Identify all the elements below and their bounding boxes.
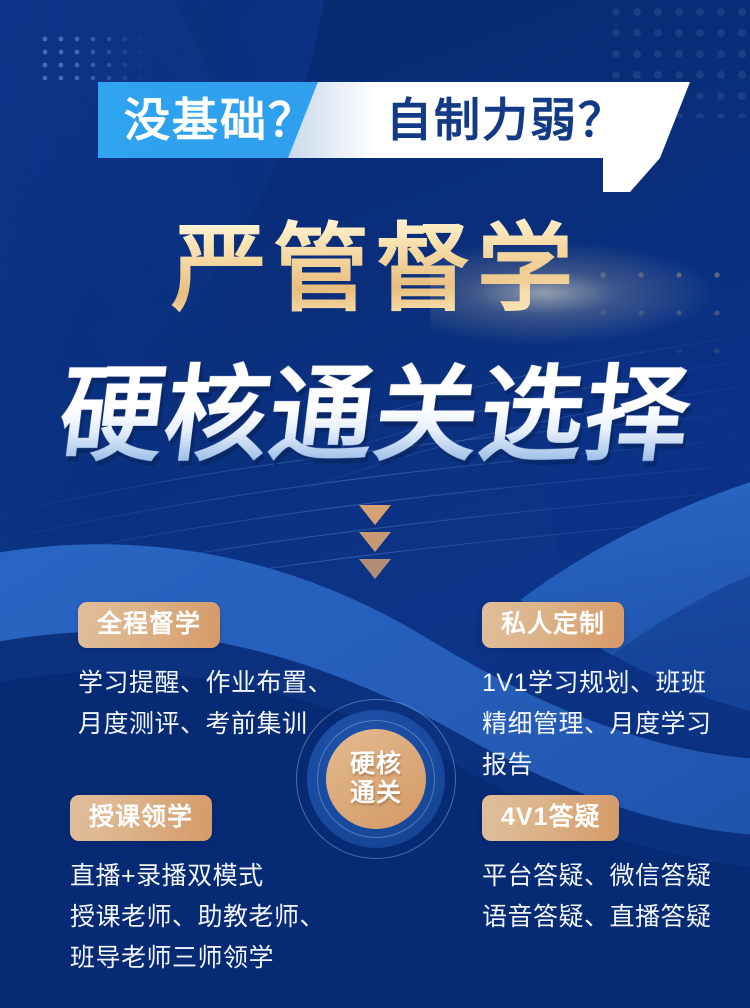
banner-question-left: 没基础？ xyxy=(124,82,316,158)
feature-card-bottom-right: 4V1答疑 平台答疑、微信答疑 语音答疑、直播答疑 xyxy=(482,795,712,938)
feature-card-bottom-left: 授课领学 直播+录播双模式 授课老师、助教老师、 班导老师三师领学 xyxy=(70,795,325,979)
feature-body: 学习提醒、作业布置、 月度测评、考前集训 xyxy=(78,663,333,745)
feature-badge: 4V1答疑 xyxy=(482,795,619,841)
feature-badge: 授课领学 xyxy=(70,795,212,841)
banner-question-right: 自制力弱？ xyxy=(386,82,626,158)
triangle-down-icon xyxy=(359,559,391,579)
feature-body: 1V1学习规划、班班 精细管理、月度学习 报告 xyxy=(482,663,712,786)
dot-grid-top-left xyxy=(42,36,150,84)
feature-card-top-right: 私人定制 1V1学习规划、班班 精细管理、月度学习 报告 xyxy=(482,602,712,786)
feature-body: 直播+录播双模式 授课老师、助教老师、 班导老师三师领学 xyxy=(70,856,325,979)
triangle-down-icon xyxy=(359,505,391,525)
feature-card-top-left: 全程督学 学习提醒、作业布置、 月度测评、考前集训 xyxy=(78,602,333,745)
feature-badge: 全程督学 xyxy=(78,602,220,648)
scroll-arrows xyxy=(0,505,750,586)
headline-banner: 没基础？ 自制力弱？ xyxy=(0,82,750,192)
triangle-down-icon xyxy=(359,532,391,552)
headline-white: 硬核通关选择 xyxy=(0,358,750,474)
emblem-core: 硬核 通关 xyxy=(326,729,426,829)
emblem-text-line1: 硬核 xyxy=(350,750,402,779)
emblem-text-line2: 通关 xyxy=(350,779,402,808)
feature-badge: 私人定制 xyxy=(482,602,624,648)
promo-poster: 没基础？ 自制力弱？ 严管督学 硬核通关选择 硬核 通关 全程督学 学习提醒、作… xyxy=(0,0,750,1008)
headline-gold: 严管督学 xyxy=(0,218,750,322)
feature-body: 平台答疑、微信答疑 语音答疑、直播答疑 xyxy=(482,856,712,938)
